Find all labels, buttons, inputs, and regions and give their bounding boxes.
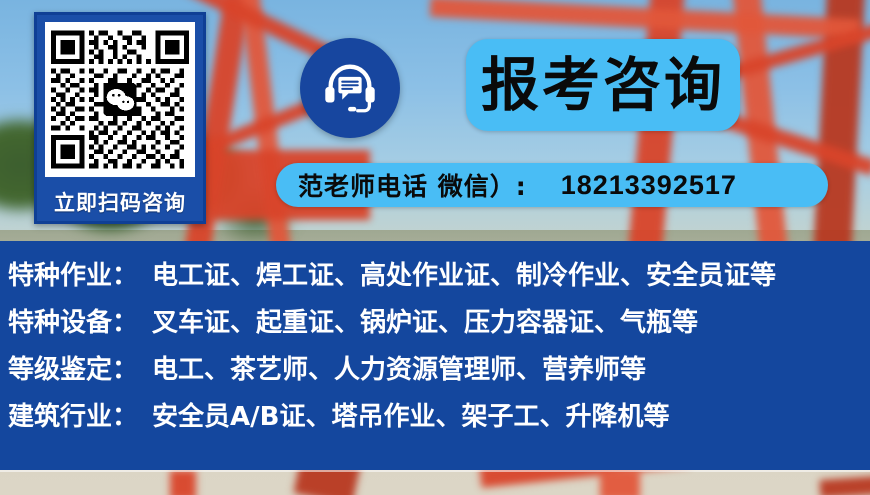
info-row-value: 安全员A/B证、塔吊作业、架子工、升降机等: [152, 396, 669, 433]
panel-bottom-edge: [0, 470, 870, 472]
headline-pill: 报考咨询: [466, 39, 740, 131]
support-badge: [300, 38, 400, 138]
info-row-value: 叉车证、起重证、锅炉证、压力容器证、气瓶等: [152, 302, 698, 339]
promo-poster: 立即扫码咨询 报考咨询 范老师电话 微信）: 18213392517 特种: [0, 0, 870, 495]
info-row-label: 建筑行业：: [8, 396, 138, 433]
course-list-panel: 特种作业： 电工证、焊工证、高处作业证、制冷作业、安全员证等 特种设备： 叉车证…: [0, 241, 870, 470]
info-row-special-equipment: 特种设备： 叉车证、起重证、锅炉证、压力容器证、气瓶等: [8, 302, 870, 349]
info-row-grade-assessment: 等级鉴定： 电工、茶艺师、人力资源管理师、营养师等: [8, 349, 870, 396]
qr-caption: 立即扫码咨询: [54, 187, 186, 217]
info-row-value: 电工证、焊工证、高处作业证、制冷作业、安全员证等: [152, 255, 776, 292]
info-row-label: 特种作业：: [8, 255, 138, 292]
info-row-label: 等级鉴定：: [8, 349, 138, 386]
contact-phone-number[interactable]: 18213392517: [561, 170, 737, 201]
info-row-value: 电工、茶艺师、人力资源管理师、营养师等: [152, 349, 646, 386]
contact-pill[interactable]: 范老师电话 微信）: 18213392517: [276, 163, 828, 207]
qr-code-card[interactable]: 立即扫码咨询: [34, 12, 206, 224]
headset-support-icon: [319, 57, 381, 119]
info-row-label: 特种设备：: [8, 302, 138, 339]
contact-label: 范老师电话 微信）:: [298, 167, 527, 203]
qr-code-image[interactable]: [45, 22, 195, 177]
qr-code-svg: [51, 28, 189, 171]
info-row-special-operations: 特种作业： 电工证、焊工证、高处作业证、制冷作业、安全员证等: [8, 255, 870, 302]
headline-text: 报考咨询: [481, 56, 725, 114]
info-row-construction-industry: 建筑行业： 安全员A/B证、塔吊作业、架子工、升降机等: [8, 396, 870, 443]
